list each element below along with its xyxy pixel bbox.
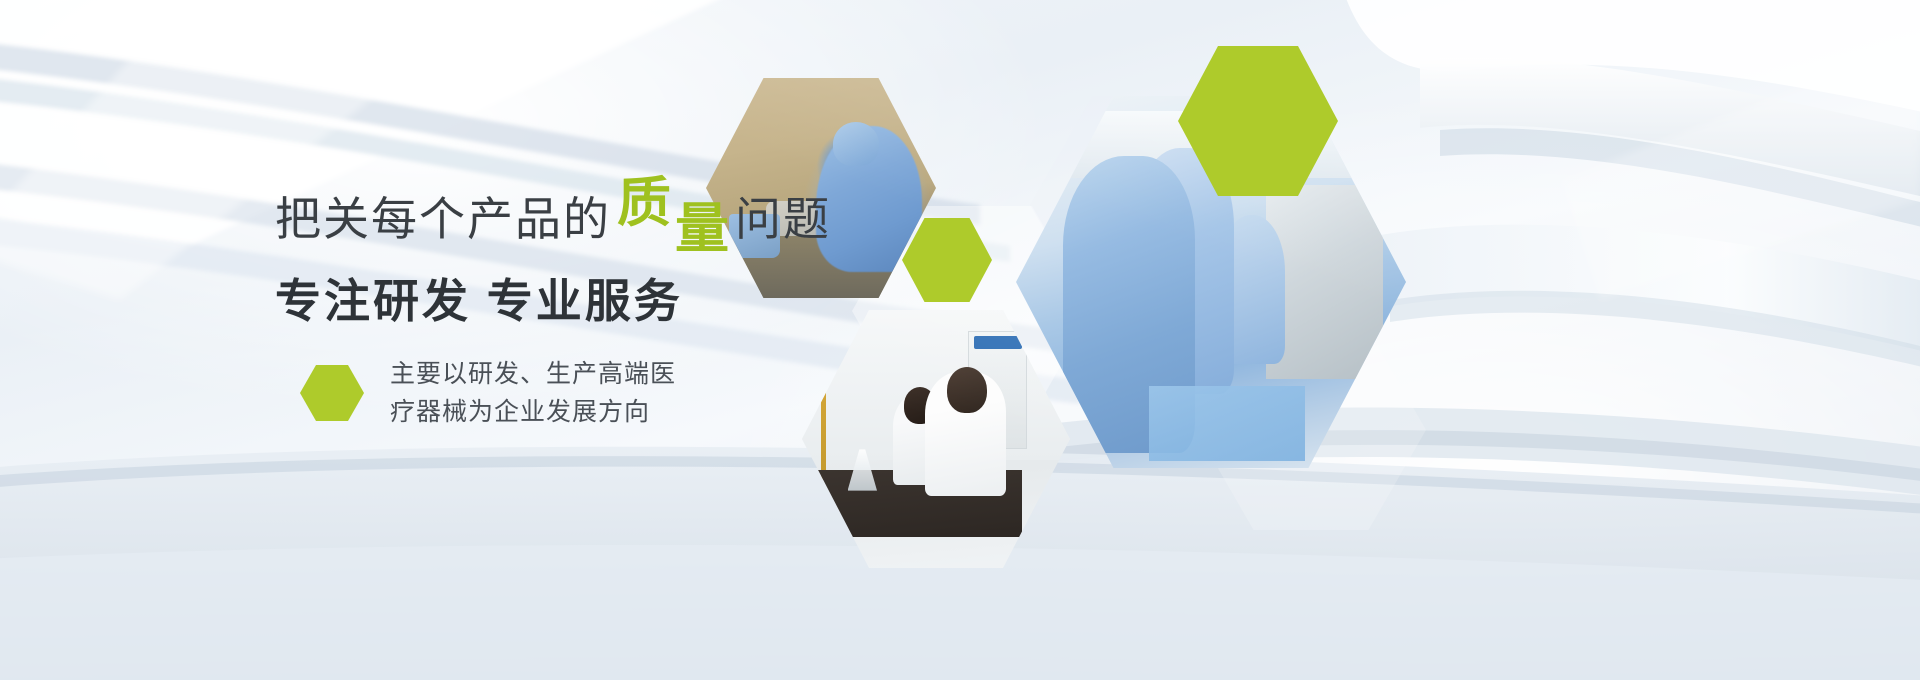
- hexagon-cluster: [0, 0, 1920, 680]
- description-text: 主要以研发、生产高端医 疗器械为企业发展方向: [390, 355, 676, 431]
- hexagon-bullet-icon: [300, 365, 364, 421]
- headline-line-1: 把关每个产品的质量问题: [275, 178, 955, 256]
- headline-highlight-liang: 量: [675, 190, 729, 268]
- description-row: 主要以研发、生产高端医 疗器械为企业发展方向: [300, 355, 676, 431]
- headline-part-2: 问题: [735, 193, 831, 245]
- hero-copy: 把关每个产品的质量问题 专注研发 专业服务: [275, 178, 955, 332]
- hero-banner: 把关每个产品的质量问题 专注研发 专业服务 主要以研发、生产高端医 疗器械为企业…: [0, 0, 1920, 680]
- headline-line-2: 专注研发 专业服务: [275, 270, 955, 332]
- headline-highlight-zhi: 质: [617, 164, 671, 242]
- headline-part-1: 把关每个产品的: [275, 193, 611, 245]
